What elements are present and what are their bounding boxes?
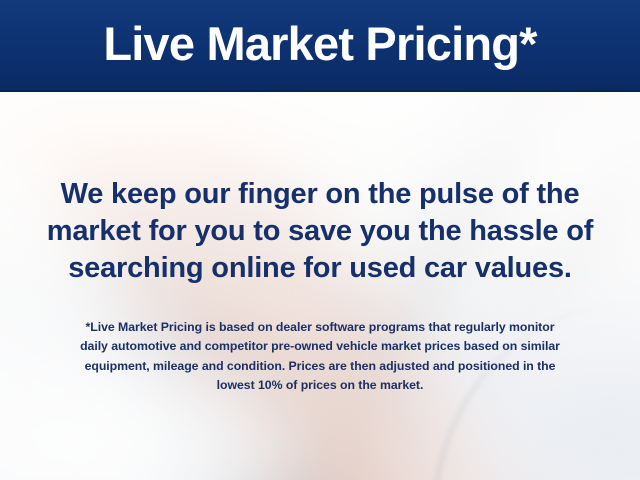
disclaimer-block: *Live Market Pricing is based on dealer … <box>0 318 640 396</box>
disclaimer-line-1: *Live Market Pricing is based on dealer … <box>0 318 640 337</box>
disclaimer-line-2: daily automotive and competitor pre-owne… <box>0 337 640 356</box>
disclaimer-line-4: lowest 10% of prices on the market. <box>0 376 640 395</box>
header-band: Live Market Pricing* <box>0 0 640 92</box>
headline-line-1: We keep our finger on the pulse of the <box>0 176 640 213</box>
disclaimer-line-3: equipment, mileage and condition. Prices… <box>0 357 640 376</box>
headline-line-2: market for you to save you the hassle of <box>0 213 640 250</box>
headline-line-3: searching online for used car values. <box>0 250 640 287</box>
headline-block: We keep our finger on the pulse of the m… <box>0 176 640 287</box>
live-market-pricing-banner: Live Market Pricing* We keep our finger … <box>0 0 640 480</box>
page-title: Live Market Pricing* <box>103 20 536 71</box>
